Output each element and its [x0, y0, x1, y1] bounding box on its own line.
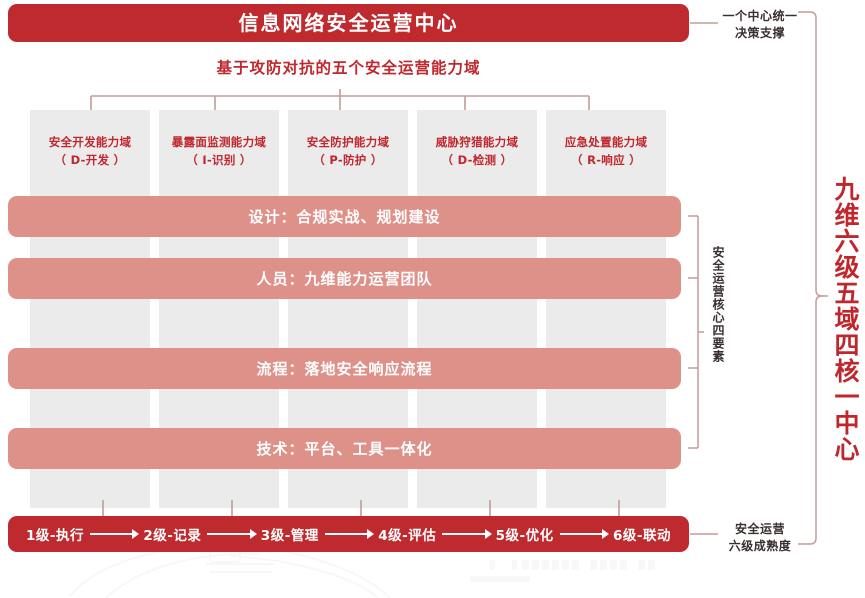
annotation-center-line-1: 一个中心统一	[712, 8, 808, 25]
capability-name-4: 威胁狩猎能力域	[417, 134, 537, 152]
arrow-right-icon	[554, 529, 613, 539]
columns-bracket-connector	[90, 88, 590, 110]
capability-label-4: 威胁狩猎能力域 （ D-检测 ）	[417, 134, 537, 170]
capability-code-5: （ R-响应 ）	[546, 152, 666, 170]
core-element-bar-people[interactable]: 人员：九维能力运营团队	[8, 258, 681, 299]
annotation-core-elements: 安全运营核心四要素	[706, 246, 726, 363]
capability-code-3: （ P-防护 ）	[288, 152, 408, 170]
maturity-level-1: 1级-执行	[26, 524, 84, 544]
maturity-level-4: 4级-评估	[378, 524, 436, 544]
capability-code-4: （ D-检测 ）	[417, 152, 537, 170]
capability-name-5: 应急处置能力域	[546, 134, 666, 152]
core-element-label-design: 设计：合规实战、规划建设	[248, 206, 440, 227]
capability-label-2: 暴露面监测能力域 （ I-识别 ）	[159, 134, 279, 170]
maturity-level-bar[interactable]: 1级-执行 2级-记录 3级-管理 4级-评估 5级-优化 6级-联动	[8, 516, 689, 552]
annotation-slogan: 九维六级五域四核一中心	[826, 176, 860, 462]
arrow-right-icon	[319, 529, 378, 539]
arrow-right-icon	[84, 529, 143, 539]
annotation-maturity-line-1: 安全运营	[712, 521, 808, 538]
capability-code-2: （ I-识别 ）	[159, 152, 279, 170]
maturity-level-5: 5级-优化	[496, 524, 554, 544]
capability-name-3: 安全防护能力域	[288, 134, 408, 152]
capability-name-2: 暴露面监测能力域	[159, 134, 279, 152]
core-element-bar-design[interactable]: 设计：合规实战、规划建设	[8, 196, 681, 237]
capability-name-1: 安全开发能力域	[30, 134, 150, 152]
maturity-level-2: 2级-记录	[143, 524, 201, 544]
annotation-center-line-2: 决策支撑	[712, 25, 808, 42]
annotation-maturity: 安全运营 六级成熟度	[712, 521, 808, 556]
core-element-label-technology: 技术：平台、工具一体化	[256, 438, 432, 459]
capability-label-3: 安全防护能力域 （ P-防护 ）	[288, 134, 408, 170]
annotation-maturity-line-2: 六级成熟度	[712, 538, 808, 555]
annotation-center: 一个中心统一 决策支撑	[712, 8, 808, 43]
page-title: 信息网络安全运营中心	[239, 13, 459, 33]
core-element-label-people: 人员：九维能力运营团队	[256, 268, 432, 289]
core-element-bar-process[interactable]: 流程：落地安全响应流程	[8, 348, 681, 389]
maturity-level-6: 6级-联动	[613, 524, 671, 544]
core-element-bar-technology[interactable]: 技术：平台、工具一体化	[8, 428, 681, 469]
arrow-right-icon	[436, 529, 495, 539]
arrow-right-icon	[201, 529, 260, 539]
maturity-level-3: 3级-管理	[261, 524, 319, 544]
diagram-canvas: 信息网络安全运营中心 基于攻防对抗的五个安全运营能力域 安全开发能力域 （ D-…	[0, 0, 865, 598]
header-title-bar: 信息网络安全运营中心	[8, 4, 689, 42]
capability-label-1: 安全开发能力域 （ D-开发 ）	[30, 134, 150, 170]
subtitle: 基于攻防对抗的五个安全运营能力域	[8, 56, 689, 78]
capability-label-5: 应急处置能力域 （ R-响应 ）	[546, 134, 666, 170]
core-element-label-process: 流程：落地安全响应流程	[256, 358, 432, 379]
capability-code-1: （ D-开发 ）	[30, 152, 150, 170]
